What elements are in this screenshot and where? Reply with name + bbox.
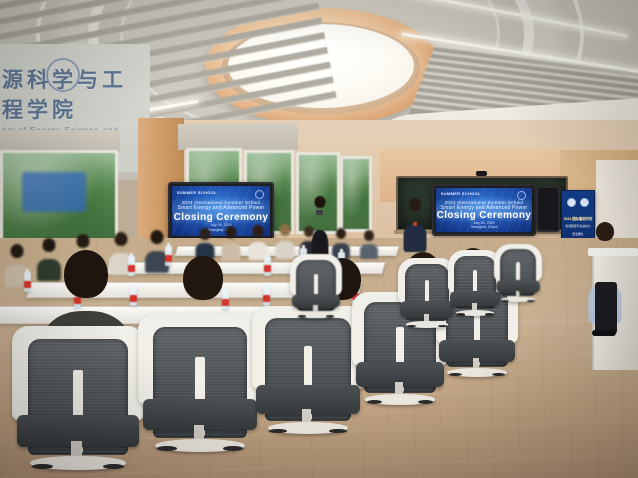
head — [183, 256, 223, 300]
office-chair[interactable] — [252, 306, 364, 438]
head — [409, 198, 421, 211]
banner-title: 2024 国际暑期学校 — [562, 216, 594, 221]
front-wall-display[interactable]: SUMMER SCHOOL 2024 International Summer … — [432, 184, 536, 236]
chair-base — [501, 297, 536, 302]
right-wall-display-edge[interactable] — [536, 186, 560, 232]
audience-person — [360, 230, 377, 256]
sign-chinese-text: 源科学与工程学院 — [2, 64, 148, 124]
roller-blind-left[interactable] — [0, 130, 120, 152]
left-slide-logo: SUMMER SCHOOL — [177, 190, 217, 195]
torso — [404, 224, 427, 252]
left-slide-line-2: Smart Energy and Advanced Power — [172, 205, 270, 211]
audience-person — [196, 228, 214, 256]
head — [64, 250, 108, 298]
water-bottle[interactable] — [130, 286, 137, 306]
head — [315, 196, 326, 208]
office-chair[interactable] — [290, 254, 342, 320]
head — [280, 224, 291, 236]
staff-shoe-icon — [592, 330, 616, 336]
head — [151, 230, 164, 244]
left-slide-headline: Closing Ceremony — [172, 212, 270, 223]
office-chair[interactable] — [494, 244, 542, 304]
office-chair[interactable] — [12, 326, 144, 474]
head — [11, 244, 24, 258]
head — [115, 232, 128, 246]
camera-in-hands-icon — [316, 210, 323, 215]
front-slide: SUMMER SCHOOL 2024 International Summer … — [436, 188, 532, 232]
ceiling-mounted-camera-icon — [476, 171, 487, 176]
conference-room-photo: 源科学与工程学院 ool of Energy Science and Engin… — [0, 0, 638, 478]
slide-logo: SUMMER SCHOOL — [441, 191, 481, 196]
chair-base — [155, 439, 244, 452]
slide-place: Shanghai, China — [436, 225, 532, 229]
head — [77, 234, 90, 248]
water-bottle[interactable] — [264, 256, 271, 276]
head — [200, 228, 211, 240]
office-chair[interactable] — [138, 314, 262, 456]
water-bottle[interactable] — [128, 256, 135, 276]
head — [336, 228, 346, 239]
left-slide-emblem-icon — [255, 190, 264, 199]
water-bottle[interactable] — [24, 272, 31, 292]
slide-date: July 26, 2024 — [436, 221, 532, 225]
roller-blind-right[interactable] — [178, 124, 298, 150]
chair-base — [30, 456, 125, 469]
audience-person — [276, 224, 294, 254]
window-blue-reflection — [22, 172, 86, 212]
audience-person — [249, 225, 267, 255]
window-far-right — [340, 156, 372, 232]
left-slide-line-1: 2024 International Summer School — [172, 200, 270, 205]
head — [364, 230, 374, 241]
chair-base — [447, 368, 506, 377]
chair-base — [456, 310, 495, 316]
audience-person — [222, 226, 240, 256]
chair-base — [297, 312, 334, 318]
standing-photographer — [310, 196, 330, 258]
chair-base — [268, 422, 349, 434]
chair-base — [365, 394, 434, 404]
banner-logos — [565, 197, 591, 208]
water-bottle[interactable] — [263, 286, 270, 306]
speaker-badge-icon — [413, 222, 417, 226]
head — [226, 226, 237, 238]
head — [253, 225, 264, 237]
head — [596, 222, 614, 241]
staff-legs — [595, 282, 617, 334]
chair-base — [406, 321, 448, 327]
